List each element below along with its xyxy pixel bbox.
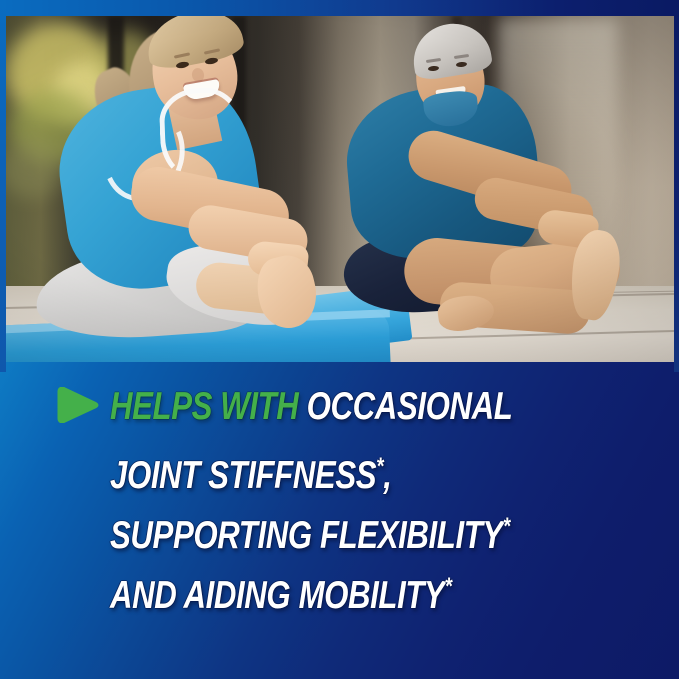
headline-line-2: JOINT STIFFNESS*, [110, 447, 558, 504]
product-banner: HELPS WITH OCCASIONAL JOINT STIFFNESS*, … [0, 0, 679, 679]
headline-line-2-tail: , [383, 454, 391, 497]
man-stretching [340, 0, 679, 372]
headline-line-3-asterisk: * [503, 513, 510, 540]
headline-line-4-main: AND AIDING MOBILITY [110, 574, 444, 617]
woman-stretching [0, 0, 340, 372]
headline-panel: HELPS WITH OCCASIONAL JOINT STIFFNESS*, … [0, 362, 679, 679]
headline-line-1-green: HELPS WITH [110, 385, 307, 428]
lifestyle-photo [0, 0, 679, 372]
headline-line-3: SUPPORTING FLEXIBILITY* [110, 507, 558, 564]
headline-line-1: HELPS WITH OCCASIONAL [110, 378, 558, 435]
headline-line-4: AND AIDING MOBILITY* [110, 567, 558, 624]
headline-line-3-main: SUPPORTING FLEXIBILITY [110, 514, 503, 557]
headline-line-4-asterisk: * [444, 573, 451, 600]
headline-line-2-main: JOINT STIFFNESS [110, 454, 376, 497]
headline-text: HELPS WITH OCCASIONAL JOINT STIFFNESS*, … [110, 378, 670, 624]
headline-line-2-asterisk: * [376, 453, 383, 480]
play-triangle-bullet-icon [55, 387, 99, 423]
photo-right-border [674, 0, 679, 372]
photo-left-border [0, 0, 6, 372]
headline-line-1-white: OCCASIONAL [307, 385, 513, 428]
photo-top-border [0, 0, 679, 16]
